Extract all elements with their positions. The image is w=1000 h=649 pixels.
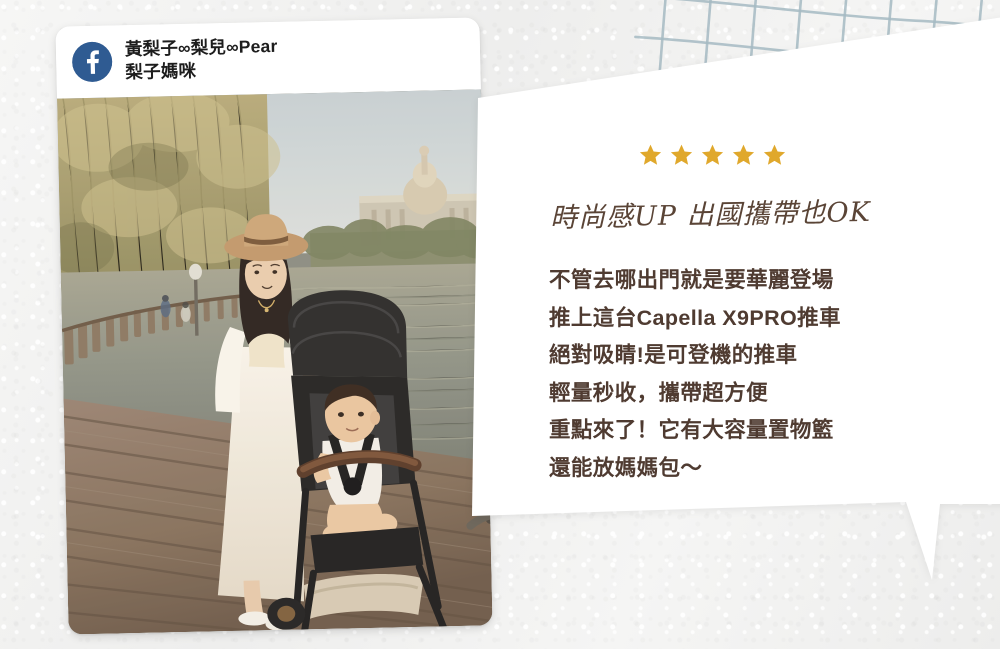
star-rating — [638, 143, 787, 167]
facebook-icon[interactable] — [72, 41, 113, 82]
review-bubble: 時尚感UP 出國攜帶也OK 不管去哪出門就是要華麗登場 推上這台Capella … — [470, 0, 1000, 600]
star-icon — [638, 143, 663, 167]
star-icon — [669, 143, 694, 167]
star-icon — [700, 143, 725, 167]
star-icon — [731, 143, 756, 167]
post-photo[interactable] — [57, 89, 493, 634]
review-body-line: 重點來了！它有大容量置物籃 — [549, 412, 979, 450]
review-body-line: 不管去哪出門就是要華麗登場 — [549, 262, 979, 300]
review-body: 不管去哪出門就是要華麗登場 推上這台Capella X9PRO推車 絕對吸睛!是… — [549, 262, 979, 487]
review-body-line: 絕對吸睛!是可登機的推車 — [549, 337, 979, 375]
poster-canvas: 黃梨子∞梨兒∞Pear 梨子媽咪 — [0, 0, 1000, 649]
review-body-line: 輕量秒收，攜帶超方便 — [549, 375, 979, 413]
review-body-line: 還能放媽媽包～ — [549, 450, 979, 488]
review-headline: 時尚感UP 出國攜帶也OK — [550, 188, 971, 235]
post-header: 黃梨子∞梨兒∞Pear 梨子媽咪 — [55, 17, 480, 98]
account-name: 黃梨子∞梨兒∞Pear — [125, 35, 278, 61]
facebook-post-card[interactable]: 黃梨子∞梨兒∞Pear 梨子媽咪 — [55, 17, 492, 634]
account-info: 黃梨子∞梨兒∞Pear 梨子媽咪 — [125, 35, 279, 85]
review-body-line: 推上這台Capella X9PRO推車 — [549, 300, 979, 338]
account-subtitle: 梨子媽咪 — [125, 58, 278, 84]
star-icon — [762, 143, 787, 167]
